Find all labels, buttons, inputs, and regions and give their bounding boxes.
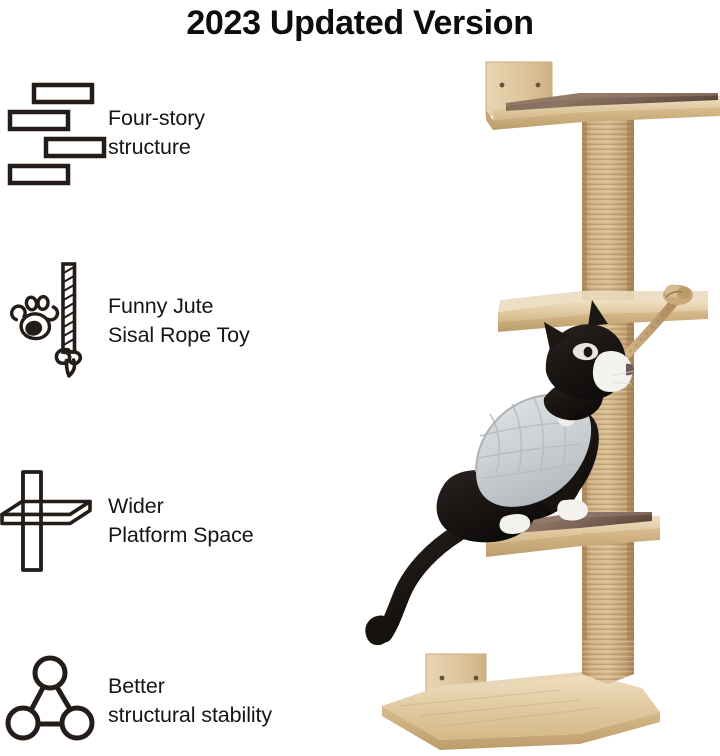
feature-line-2: Sisal Rope Toy: [108, 321, 250, 350]
post-and-platform-icon: [0, 466, 108, 576]
feature-line-2: structure: [108, 133, 205, 162]
feature-line-2: structural stability: [108, 701, 272, 730]
paw-and-rope-icon: [0, 266, 108, 376]
feature-label-wider-platform: Wider Platform Space: [108, 492, 254, 549]
feature-list: Four-story structure: [0, 70, 360, 750]
feature-line-1: Wider: [108, 492, 254, 521]
feature-item-wider-platform: Wider Platform Space: [0, 466, 350, 576]
feature-line-1: Funny Jute: [108, 292, 250, 321]
feature-label-four-story: Four-story structure: [108, 104, 205, 161]
feature-item-rope-toy: Funny Jute Sisal Rope Toy: [0, 266, 350, 376]
feature-item-four-story: Four-story structure: [0, 78, 350, 188]
stacked-shelves-icon: [0, 78, 108, 188]
feature-line-1: Four-story: [108, 104, 205, 133]
feature-line-2: Platform Space: [108, 521, 254, 550]
product-image: Four-story wall-mounted wooden cat tree …: [330, 0, 720, 750]
feature-label-stability: Better structural stability: [108, 672, 272, 729]
triangle-nodes-icon: [0, 646, 108, 756]
infographic-page: 2023 Updated Version Four-story structur…: [0, 0, 720, 750]
feature-line-1: Better: [108, 672, 272, 701]
feature-item-stability: Better structural stability: [0, 646, 350, 756]
feature-label-rope-toy: Funny Jute Sisal Rope Toy: [108, 292, 250, 349]
